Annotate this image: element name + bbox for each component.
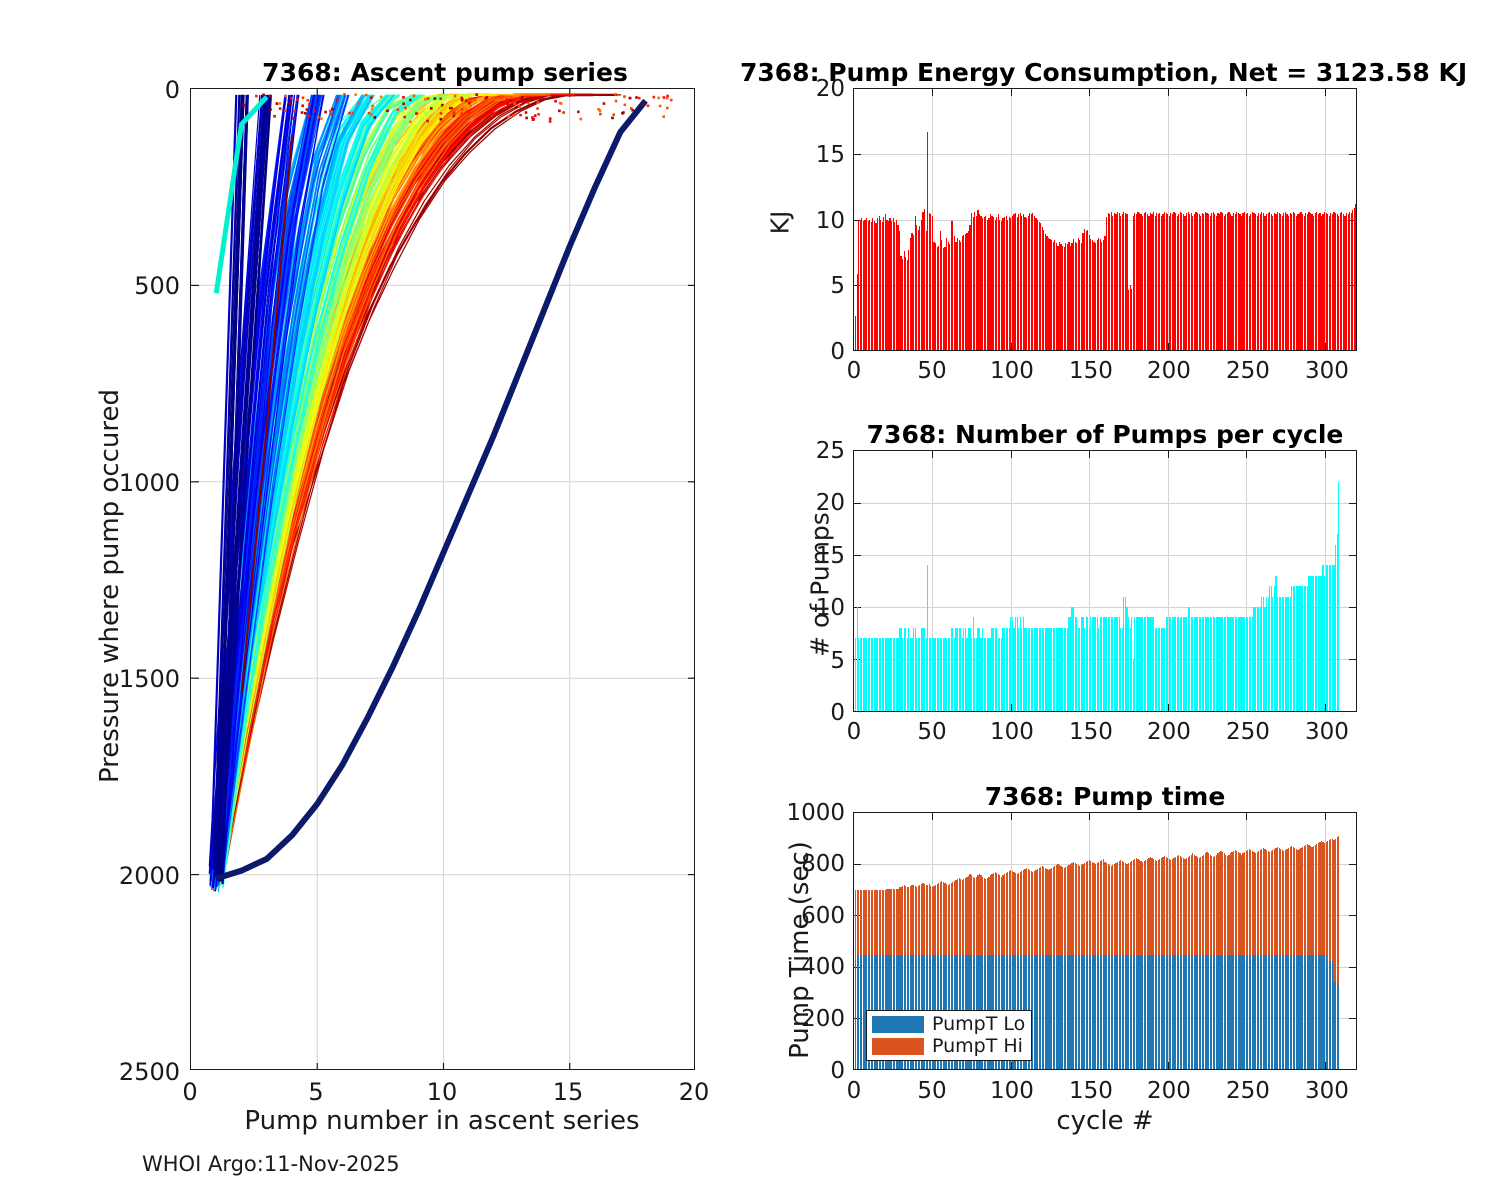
- ascent-xtick-15: 15: [543, 1078, 593, 1106]
- surface-pump-marker: [560, 102, 563, 105]
- surface-pump-marker: [306, 99, 309, 102]
- surface-pump-marker: [465, 99, 468, 102]
- surface-pump-marker: [666, 97, 669, 100]
- ascent-xaxis-label: Pump number in ascent series: [192, 1106, 692, 1136]
- surface-pump-marker: [460, 112, 463, 115]
- tick-x-top: [1011, 813, 1012, 820]
- surface-pump-marker: [635, 96, 638, 99]
- energy-yaxis-label: KJ: [766, 178, 795, 268]
- surface-pump-marker: [509, 99, 512, 102]
- bar-pumpt-hi: [1338, 836, 1339, 986]
- pumptime-xtick-0: 0: [833, 1078, 875, 1104]
- surface-pump-marker: [521, 96, 524, 99]
- pumps-xtick-0: 0: [833, 719, 875, 745]
- pumptime-plot-area: PumpT Lo PumpT Hi: [853, 812, 1357, 1070]
- surface-pump-marker: [662, 115, 665, 118]
- tick-y-right: [1349, 503, 1356, 504]
- pumps-xtick-250: 250: [1226, 719, 1268, 745]
- legend-label-pumpt-hi: PumpT Hi: [932, 1037, 1023, 1056]
- surface-pump-marker: [468, 102, 471, 105]
- tick-x-top: [1168, 89, 1169, 96]
- pumptime-legend: PumpT Lo PumpT Hi: [866, 1010, 1032, 1061]
- surface-pump-marker: [262, 93, 265, 96]
- surface-pump-marker: [453, 112, 456, 115]
- ascent-ytick-500: 500: [120, 272, 180, 300]
- surface-pump-marker: [308, 103, 311, 106]
- surface-pump-marker: [293, 110, 296, 113]
- surface-pump-marker: [354, 93, 357, 96]
- pumps-panel-title: 7368: Number of Pumps per cycle: [853, 420, 1357, 449]
- energy-panel-title: 7368: Pump Energy Consumption, Net = 312…: [740, 58, 1500, 87]
- bar-pump-count: [1338, 482, 1339, 711]
- tick-x-top: [1089, 89, 1090, 96]
- energy-xtick-300: 300: [1305, 358, 1347, 384]
- surface-pump-marker: [577, 111, 580, 114]
- surface-pump-marker: [357, 102, 360, 105]
- surface-pump-marker: [512, 114, 515, 117]
- legend-label-pumpt-lo: PumpT Lo: [932, 1015, 1025, 1034]
- surface-pump-marker: [454, 95, 457, 98]
- surface-pump-marker: [402, 102, 405, 105]
- surface-pump-marker: [629, 97, 632, 100]
- gridline-horizontal: [854, 503, 1356, 504]
- energy-xtick-0: 0: [833, 358, 875, 384]
- surface-pump-marker: [371, 105, 374, 108]
- surface-pump-marker: [365, 94, 368, 97]
- pumps-xtick-150: 150: [1069, 719, 1111, 745]
- pumptime-xtick-200: 200: [1147, 1078, 1189, 1104]
- surface-pump-marker: [518, 105, 521, 108]
- surface-pump-marker: [329, 110, 332, 113]
- tick-x-top: [1325, 451, 1326, 458]
- surface-pump-marker: [525, 117, 528, 120]
- surface-pump-marker: [370, 113, 373, 116]
- surface-pump-marker: [449, 107, 452, 110]
- surface-pump-marker: [317, 116, 320, 119]
- tick-x-top: [1325, 89, 1326, 96]
- pumps-xtick-300: 300: [1305, 719, 1347, 745]
- surface-pump-marker: [440, 118, 443, 121]
- tick-y-right: [1349, 659, 1356, 660]
- surface-pump-marker: [666, 95, 669, 98]
- pumptime-xtick-100: 100: [990, 1078, 1032, 1104]
- surface-pump-marker: [273, 115, 276, 118]
- surface-pump-marker: [531, 116, 534, 119]
- tick-x-top: [1325, 813, 1326, 820]
- pumps-xtick-50: 50: [911, 719, 953, 745]
- surface-pump-marker: [631, 109, 634, 112]
- surface-pump-marker: [469, 105, 472, 108]
- surface-pump-marker: [255, 95, 258, 98]
- tick-x-top: [932, 813, 933, 820]
- surface-pump-marker: [507, 102, 510, 105]
- energy-ytick-15: 15: [793, 142, 845, 168]
- pumps-ytick-25: 25: [793, 438, 845, 464]
- tick-y-right: [1349, 555, 1356, 556]
- energy-ytick-20: 20: [793, 76, 845, 102]
- surface-pump-marker: [534, 114, 537, 117]
- tick-x-top: [1168, 813, 1169, 820]
- ascent-xtick-5: 5: [291, 1078, 341, 1106]
- surface-pump-marker: [413, 95, 416, 98]
- ascent-xtick-10: 10: [417, 1078, 467, 1106]
- footer-credit: WHOI Argo:11-Nov-2025: [142, 1152, 400, 1176]
- surface-pump-marker: [615, 100, 618, 103]
- surface-pump-marker: [306, 108, 309, 111]
- surface-pump-marker: [292, 117, 295, 120]
- surface-pump-marker: [537, 113, 540, 116]
- surface-pump-marker: [370, 96, 373, 99]
- surface-pump-marker: [670, 99, 673, 102]
- energy-ytick-5: 5: [793, 273, 845, 299]
- surface-pump-marker: [663, 96, 666, 99]
- surface-pump-marker: [284, 110, 287, 113]
- surface-pump-marker: [506, 98, 509, 101]
- pumps-plot-area: [853, 450, 1357, 712]
- surface-pump-marker: [453, 115, 456, 118]
- surface-pump-marker: [461, 99, 464, 102]
- surface-pump-marker: [527, 102, 530, 105]
- surface-pump-marker: [642, 103, 645, 106]
- surface-pump-marker: [623, 95, 626, 98]
- surface-pump-marker: [304, 112, 307, 115]
- surface-pump-marker: [500, 96, 503, 99]
- surface-pump-marker: [510, 97, 513, 100]
- pumptime-xtick-300: 300: [1305, 1078, 1347, 1104]
- surface-pump-marker: [288, 102, 291, 105]
- surface-pump-marker: [404, 107, 407, 110]
- gridline-horizontal: [854, 154, 1356, 155]
- surface-pump-marker: [302, 96, 305, 99]
- surface-pump-marker: [324, 111, 327, 114]
- surface-pump-marker: [276, 102, 279, 105]
- surface-pump-marker: [537, 101, 540, 104]
- energy-xtick-150: 150: [1069, 358, 1111, 384]
- surface-pump-marker: [554, 100, 557, 103]
- pumptime-xtick-50: 50: [911, 1078, 953, 1104]
- surface-pump-marker: [622, 111, 625, 114]
- surface-pump-marker: [386, 109, 389, 112]
- surface-pump-marker: [279, 102, 282, 105]
- surface-pump-marker: [536, 107, 539, 110]
- legend-item-pumpt-hi: PumpT Hi: [872, 1037, 1025, 1056]
- surface-pump-marker: [415, 112, 418, 115]
- legend-item-pumpt-lo: PumpT Lo: [872, 1015, 1025, 1034]
- tick-x-top: [1011, 89, 1012, 96]
- tick-y-right: [1349, 154, 1356, 155]
- surface-pump-marker: [666, 107, 669, 110]
- surface-pump-marker: [580, 118, 583, 121]
- surface-pump-marker: [486, 96, 489, 99]
- surface-pump-marker: [514, 103, 517, 106]
- surface-pump-marker: [285, 95, 288, 98]
- surface-pump-marker: [519, 114, 522, 117]
- surface-pump-marker: [371, 108, 374, 111]
- tick-x-top: [1089, 813, 1090, 820]
- tick-x-top: [1168, 451, 1169, 458]
- tick-y: [854, 154, 861, 155]
- surface-pump-marker: [396, 108, 399, 111]
- ascent-xtick-20: 20: [669, 1078, 719, 1106]
- surface-pump-marker: [507, 115, 510, 118]
- surface-pump-marker: [474, 98, 477, 101]
- surface-pump-marker: [368, 112, 371, 115]
- pumptime-panel-title: 7368: Pump time: [853, 782, 1357, 811]
- surface-pump-marker: [320, 117, 323, 120]
- surface-pump-marker: [427, 97, 430, 100]
- ascent-yaxis-label: Pressure where pump occured: [95, 366, 125, 806]
- tick-x-top: [1246, 813, 1247, 820]
- pumptime-xaxis-label: cycle #: [855, 1106, 1355, 1136]
- surface-pump-marker: [409, 120, 412, 123]
- energy-xtick-200: 200: [1147, 358, 1189, 384]
- tick-x-top: [1246, 89, 1247, 96]
- surface-pump-marker: [652, 96, 655, 99]
- pumptime-xtick-250: 250: [1226, 1078, 1268, 1104]
- tick-x-top: [932, 451, 933, 458]
- surface-pump-marker: [402, 96, 405, 99]
- surface-pump-marker: [624, 104, 627, 107]
- tick-y: [854, 555, 861, 556]
- tick-x-top: [1011, 451, 1012, 458]
- surface-pump-marker: [279, 107, 282, 110]
- surface-pump-marker: [456, 108, 459, 111]
- surface-pump-marker: [336, 99, 339, 102]
- surface-pump-marker: [301, 104, 304, 107]
- surface-pump-marker: [424, 98, 427, 101]
- surface-pump-marker: [467, 110, 470, 113]
- tick-x-top: [1089, 451, 1090, 458]
- ascent-ytick-2000: 2000: [110, 862, 180, 890]
- surface-pump-marker: [296, 98, 299, 101]
- energy-plot-area: [853, 88, 1357, 351]
- surface-pump-marker: [313, 110, 316, 113]
- surface-pump-marker: [243, 104, 246, 107]
- surface-pump-marker: [269, 108, 272, 111]
- surface-pump-marker: [439, 97, 442, 100]
- surface-pump-marker: [521, 100, 524, 103]
- pumptime-xtick-150: 150: [1069, 1078, 1111, 1104]
- surface-pump-marker: [330, 113, 333, 116]
- surface-pump-marker: [614, 93, 617, 96]
- surface-pump-marker: [426, 120, 429, 123]
- surface-pump-marker: [638, 97, 641, 100]
- surface-pump-marker: [491, 112, 494, 115]
- tick-y-right: [1349, 607, 1356, 608]
- ascent-panel-title: 7368: Ascent pump series: [185, 58, 705, 87]
- tick-y-right: [1349, 967, 1356, 968]
- surface-pump-marker: [440, 112, 443, 115]
- surface-pump-marker: [348, 112, 351, 115]
- surface-pump-marker: [461, 108, 464, 111]
- tick-y: [854, 503, 861, 504]
- energy-xtick-50: 50: [911, 358, 953, 384]
- surface-pump-marker: [612, 113, 615, 116]
- surface-pump-marker: [558, 110, 561, 113]
- surface-pump-marker: [290, 97, 293, 100]
- surface-pump-marker: [380, 96, 383, 99]
- pumptime-yaxis-label: Pump Time (sec): [785, 775, 815, 1125]
- surface-pump-marker: [599, 109, 602, 112]
- surface-pump-marker: [603, 102, 606, 105]
- surface-pump-marker: [525, 111, 528, 114]
- surface-pump-marker: [430, 107, 433, 110]
- pumps-xtick-200: 200: [1147, 719, 1189, 745]
- tick-y-right: [1349, 915, 1356, 916]
- surface-pump-marker: [301, 111, 304, 114]
- surface-pump-marker: [549, 120, 552, 123]
- surface-pump-marker: [403, 116, 406, 119]
- legend-swatch-pumpt-hi: [872, 1038, 924, 1055]
- surface-pump-marker: [475, 93, 478, 96]
- surface-pump-marker: [343, 93, 346, 96]
- surface-pump-marker: [549, 117, 552, 120]
- surface-pump-marker: [409, 99, 412, 102]
- surface-pump-marker: [599, 113, 602, 116]
- tick-y-right: [1349, 864, 1356, 865]
- surface-pump-marker: [657, 97, 660, 100]
- energy-ytick-10: 10: [793, 208, 845, 234]
- surface-pump-marker: [441, 104, 444, 107]
- surface-pump-marker: [308, 115, 311, 118]
- surface-pump-marker: [647, 105, 650, 108]
- energy-xtick-100: 100: [990, 358, 1032, 384]
- energy-xtick-250: 250: [1226, 358, 1268, 384]
- ascent-ytick-0: 0: [120, 76, 180, 104]
- surface-pump-marker: [351, 112, 354, 115]
- pumps-yaxis-label: # of Pumps: [806, 465, 835, 705]
- surface-pump-marker: [434, 97, 437, 100]
- surface-pump-marker: [269, 95, 272, 98]
- surface-pump-marker: [659, 105, 662, 108]
- pumps-xtick-100: 100: [990, 719, 1032, 745]
- gridline-horizontal: [854, 555, 1356, 556]
- tick-y: [854, 864, 861, 865]
- bar-pumpt-lo: [1338, 986, 1339, 1069]
- surface-pump-marker: [611, 117, 614, 120]
- surface-pump-marker: [562, 111, 565, 114]
- legend-swatch-pumpt-lo: [872, 1016, 924, 1033]
- ascent-plot-area: [190, 88, 695, 1070]
- tick-x-top: [1246, 451, 1247, 458]
- ascent-xtick-0: 0: [165, 1078, 215, 1106]
- tick-x-top: [932, 89, 933, 96]
- tick-y-right: [1349, 1018, 1356, 1019]
- ascent-profiles-svg: [191, 89, 695, 1070]
- surface-pump-marker: [515, 106, 518, 109]
- surface-pump-marker: [373, 116, 376, 119]
